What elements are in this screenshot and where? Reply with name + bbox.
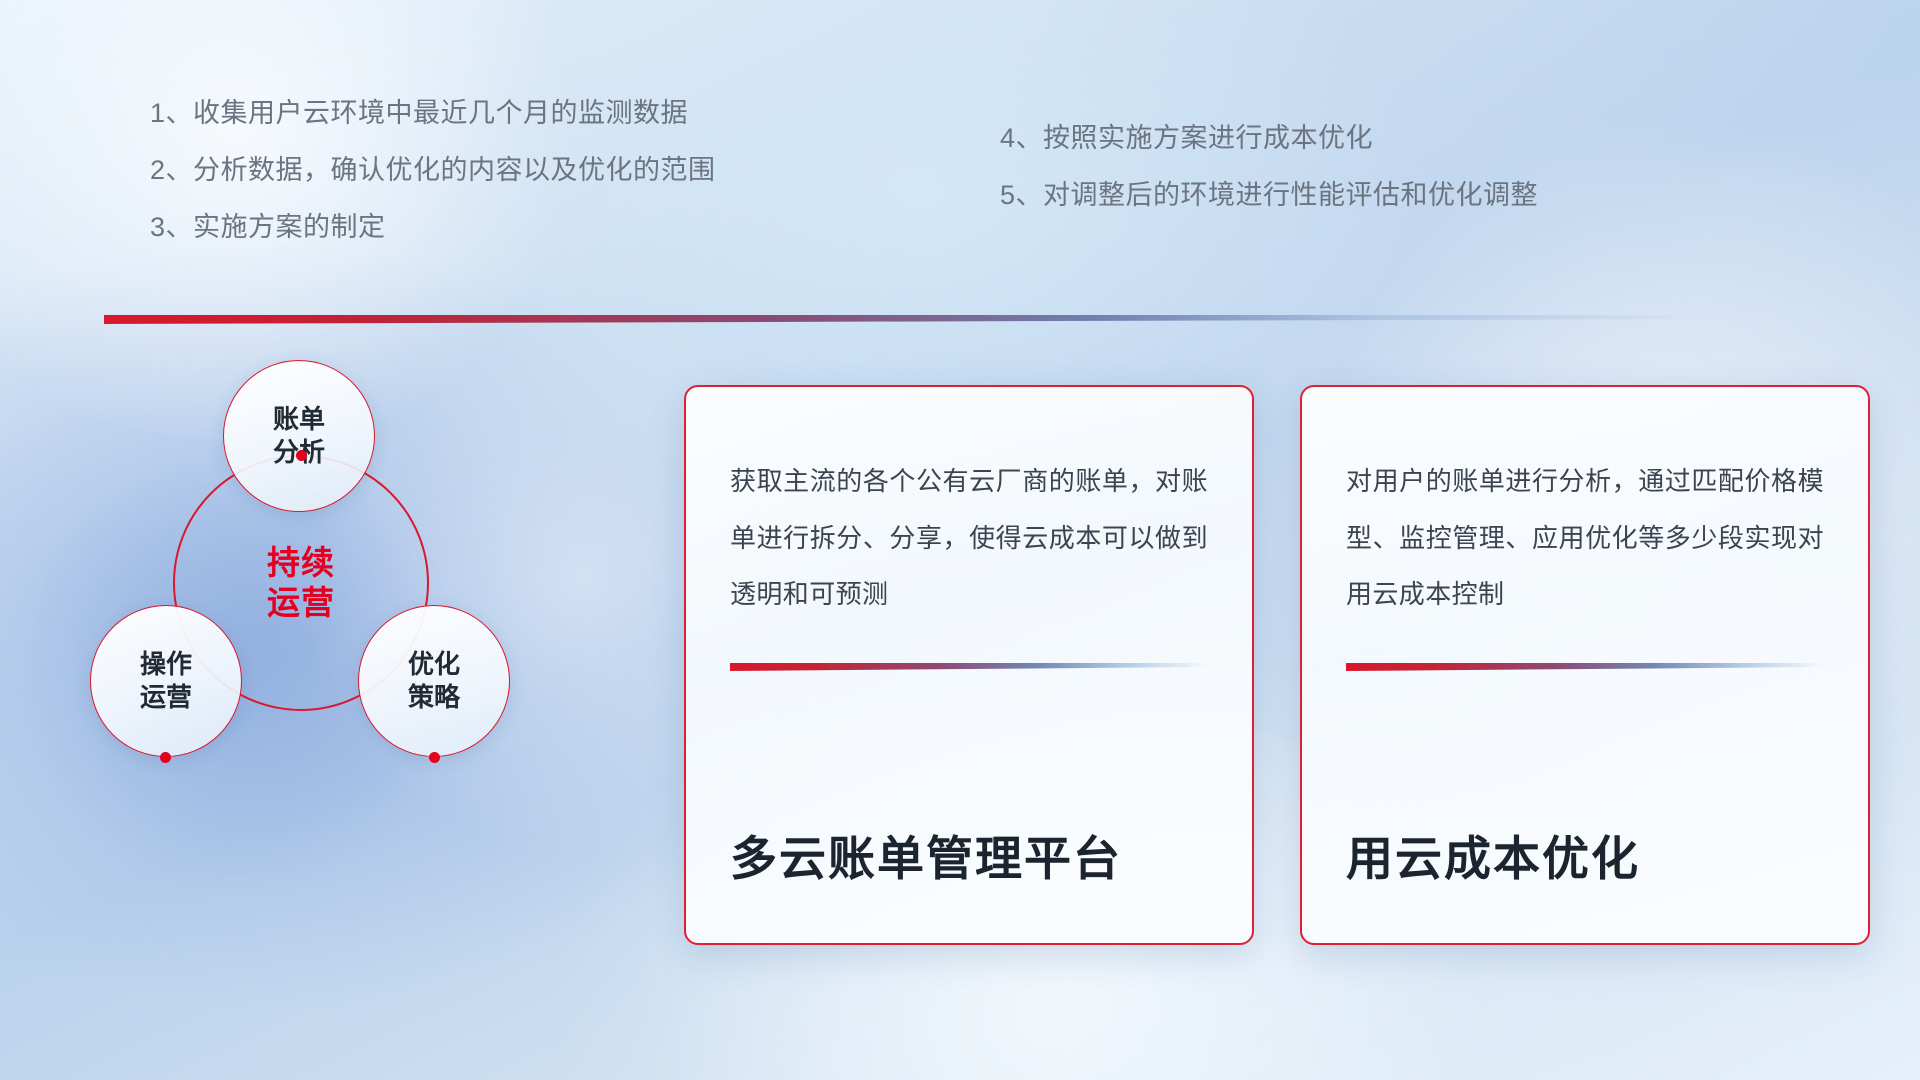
venn-center-line-2: 运营 <box>267 583 335 623</box>
card-2-title: 用云成本优化 <box>1346 833 1824 885</box>
venn-center-label: 持续 运营 <box>173 455 429 711</box>
slide-canvas: 1、收集用户云环境中最近几个月的监测数据 2、分析数据，确认优化的内容以及优化的… <box>0 0 1920 1080</box>
step-item-4: 4、按照实施方案进行成本优化 <box>1000 125 1538 152</box>
venn-node-dot-top <box>296 450 307 461</box>
card-cloud-cost-optimization[interactable]: 对用户的账单进行分析，通过匹配价格模型、监控管理、应用优化等多少段实现对用云成本… <box>1300 385 1870 945</box>
venn-node-dot-left <box>160 752 171 763</box>
card-2-rule <box>1346 663 1824 671</box>
card-multi-cloud-billing-platform[interactable]: 获取主流的各个公有云厂商的账单，对账单进行拆分、分享，使得云成本可以做到透明和可… <box>684 385 1254 945</box>
venn-node-dot-right <box>429 752 440 763</box>
section-divider <box>104 315 1699 324</box>
venn-circle-bill-analysis-line-1: 账单 <box>273 403 325 436</box>
card-1-rule <box>730 663 1208 671</box>
card-1-title: 多云账单管理平台 <box>730 833 1208 885</box>
venn-diagram: 持续 运营 账单 分析 操作 运营 优化 策略 <box>90 360 560 840</box>
steps-list-left: 1、收集用户云环境中最近几个月的监测数据 2、分析数据，确认优化的内容以及优化的… <box>150 100 716 241</box>
step-item-2: 2、分析数据，确认优化的内容以及优化的范围 <box>150 157 716 184</box>
divider-bar <box>104 315 1699 324</box>
steps-list-right: 4、按照实施方案进行成本优化 5、对调整后的环境进行性能评估和优化调整 <box>1000 125 1538 209</box>
venn-center-line-1: 持续 <box>267 543 335 583</box>
step-item-5: 5、对调整后的环境进行性能评估和优化调整 <box>1000 182 1538 209</box>
card-2-body: 对用户的账单进行分析，通过匹配价格模型、监控管理、应用优化等多少段实现对用云成本… <box>1346 453 1824 623</box>
step-item-1: 1、收集用户云环境中最近几个月的监测数据 <box>150 100 716 127</box>
card-1-body: 获取主流的各个公有云厂商的账单，对账单进行拆分、分享，使得云成本可以做到透明和可… <box>730 453 1208 623</box>
step-item-3: 3、实施方案的制定 <box>150 214 716 241</box>
